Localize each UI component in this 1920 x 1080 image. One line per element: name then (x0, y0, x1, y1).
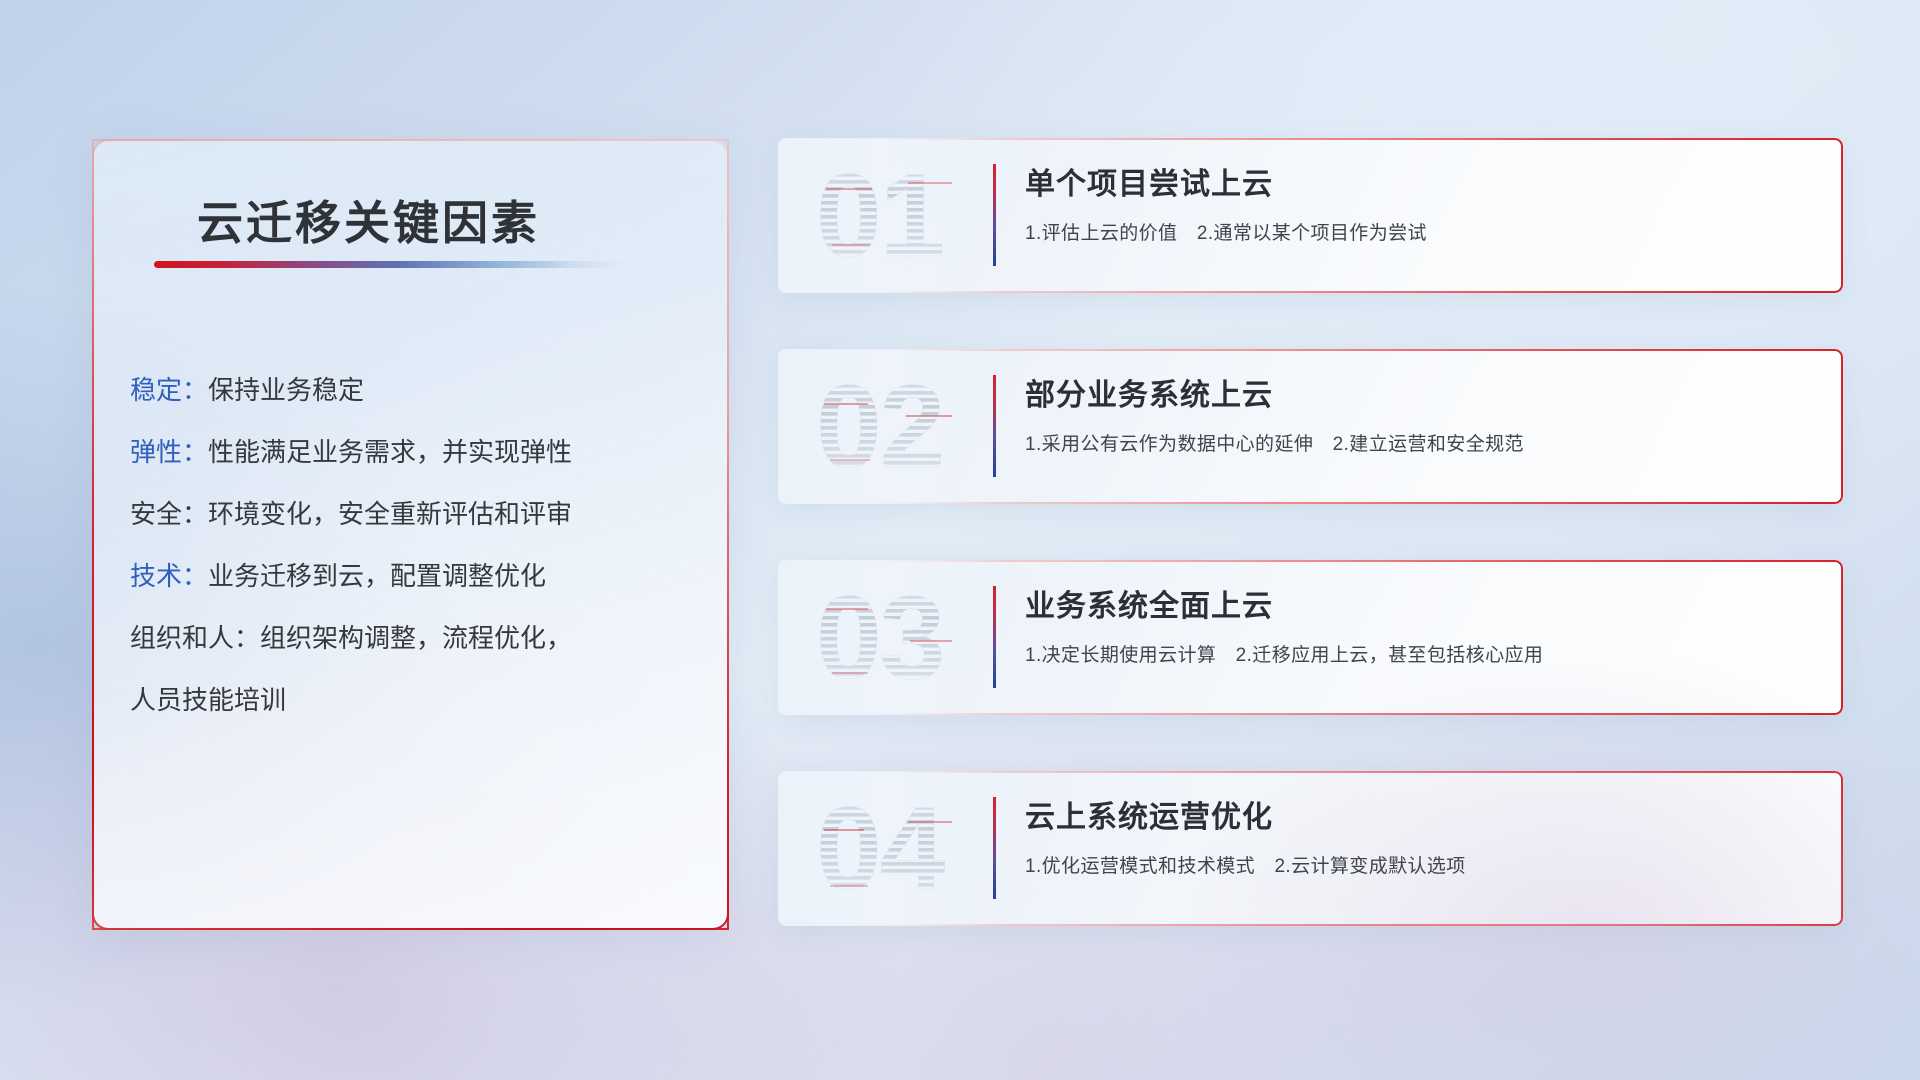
factor-value: 业务迁移到云，配置调整优化 (208, 561, 546, 591)
step-accent-bar (993, 797, 996, 899)
step-number-04-icon: 04 04 (812, 785, 982, 913)
step-number-03-icon: 03 03 (812, 574, 982, 702)
svg-text:02: 02 (816, 363, 943, 491)
slide-canvas: 云迁移关键因素 稳定：保持业务稳定 弹性：性能满足业务需求，并实现弹性 安全：环… (0, 0, 1920, 1080)
factor-value: 保持业务稳定 (208, 375, 364, 405)
key-factors-content: 云迁移关键因素 稳定：保持业务稳定 弹性：性能满足业务需求，并实现弹性 安全：环… (92, 139, 729, 930)
svg-text:03: 03 (816, 574, 943, 702)
factor-item: 组织和人：组织架构调整，流程优化， (130, 607, 710, 669)
step-card[interactable]: 01 01 单个项目尝试上云 1.评估上云的价值 2.通常以某个项目作为尝试 (778, 138, 1843, 293)
factor-label: 技术： (130, 561, 208, 591)
step-text-block: 业务系统全面上云 1.决定长期使用云计算 2.迁移应用上云，甚至包括核心应用 (1025, 585, 1543, 670)
step-title: 单个项目尝试上云 (1025, 163, 1427, 207)
title-underline-rule (154, 261, 624, 268)
factor-value: 组织架构调整，流程优化， (260, 623, 572, 653)
svg-text:01: 01 (816, 152, 943, 280)
step-title: 业务系统全面上云 (1025, 585, 1543, 629)
step-text-block: 云上系统运营优化 1.优化运营模式和技术模式 2.云计算变成默认选项 (1025, 796, 1466, 881)
step-card[interactable]: 03 03 业务系统全面上云 1.决定长期使用云计算 2.迁移应用上云，甚至包括… (778, 560, 1843, 715)
step-text-block: 部分业务系统上云 1.采用公有云作为数据中心的延伸 2.建立运营和安全规范 (1025, 374, 1524, 459)
step-subtitle: 1.采用公有云作为数据中心的延伸 2.建立运营和安全规范 (1025, 431, 1524, 459)
factor-item: 弹性：性能满足业务需求，并实现弹性 (130, 421, 710, 483)
factor-value: 环境变化，安全重新评估和评审 (208, 499, 572, 529)
step-card[interactable]: 04 04 云上系统运营优化 1.优化运营模式和技术模式 2.云计算变成默认选项 (778, 771, 1843, 926)
step-subtitle: 1.评估上云的价值 2.通常以某个项目作为尝试 (1025, 220, 1427, 248)
factor-value: 性能满足业务需求，并实现弹性 (208, 437, 572, 467)
factor-label: 安全： (130, 499, 208, 529)
svg-text:04: 04 (816, 785, 945, 913)
step-number-01-icon: 01 01 (812, 152, 982, 280)
step-number-02-icon: 02 02 (812, 363, 982, 491)
factor-label: 稳定： (130, 375, 208, 405)
factor-item: 稳定：保持业务稳定 (130, 359, 710, 421)
step-text-block: 单个项目尝试上云 1.评估上云的价值 2.通常以某个项目作为尝试 (1025, 163, 1427, 248)
factor-value: 人员技能培训 (130, 685, 286, 715)
factor-item: 安全：环境变化，安全重新评估和评审 (130, 483, 710, 545)
step-subtitle: 1.优化运营模式和技术模式 2.云计算变成默认选项 (1025, 853, 1466, 881)
factor-item-continuation: 人员技能培训 (130, 669, 710, 731)
factor-list: 稳定：保持业务稳定 弹性：性能满足业务需求，并实现弹性 安全：环境变化，安全重新… (130, 359, 710, 731)
step-accent-bar (993, 586, 996, 688)
step-card[interactable]: 02 02 部分业务系统上云 1.采用公有云作为数据中心的延伸 2.建立运营和安… (778, 349, 1843, 504)
step-title: 部分业务系统上云 (1025, 374, 1524, 418)
factor-item: 技术：业务迁移到云，配置调整优化 (130, 545, 710, 607)
factor-label: 弹性： (130, 437, 208, 467)
step-card-list: 01 01 单个项目尝试上云 1.评估上云的价值 2.通常以某个项目作为尝试 (778, 138, 1843, 982)
page-title: 云迁移关键因素 (197, 187, 540, 253)
step-accent-bar (993, 164, 996, 266)
step-accent-bar (993, 375, 996, 477)
step-subtitle: 1.决定长期使用云计算 2.迁移应用上云，甚至包括核心应用 (1025, 642, 1543, 670)
factor-label: 组织和人： (130, 623, 260, 653)
step-title: 云上系统运营优化 (1025, 796, 1466, 840)
